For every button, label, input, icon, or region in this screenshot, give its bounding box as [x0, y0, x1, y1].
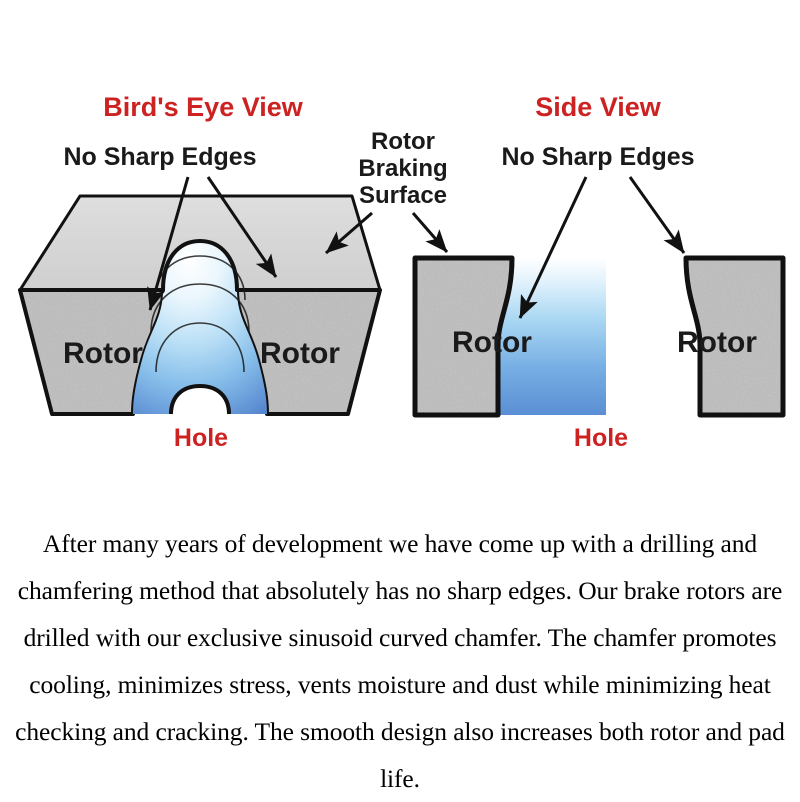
side-view-hole-label: Hole: [574, 424, 628, 452]
side-view-no-sharp-edges-label: No Sharp Edges: [501, 143, 694, 171]
description-paragraph: After many years of development we have …: [0, 520, 800, 802]
birds-eye-rotor-label-right: Rotor: [260, 337, 340, 370]
diagram-illustration: Bird's Eye View No Sharp Edges: [0, 0, 800, 480]
side-view-group: Side View No Sharp Edges Rotor Rotor Hol…: [415, 92, 783, 452]
side-view-rotor-label-left: Rotor: [452, 326, 532, 359]
birds-eye-rotor-label-left: Rotor: [63, 337, 143, 370]
birds-eye-no-sharp-edges-label: No Sharp Edges: [63, 143, 256, 171]
birds-eye-hole-label: Hole: [174, 424, 228, 452]
rotor-braking-surface-label-line1: Rotor: [371, 128, 435, 155]
rotor-braking-surface-label-line2: Braking: [358, 155, 447, 182]
side-view-rotor-label-right: Rotor: [677, 326, 757, 359]
hole-mouth-arc: [171, 386, 229, 414]
side-view-no-sharp-edges-arrow-right: [630, 177, 684, 253]
birds-eye-block: Rotor Rotor: [20, 196, 380, 414]
rotor-braking-surface-label-line3: Surface: [359, 182, 447, 209]
side-view-title: Side View: [535, 92, 662, 122]
birds-eye-view-title: Bird's Eye View: [103, 92, 304, 122]
birds-eye-view-group: Bird's Eye View No Sharp Edges: [20, 92, 380, 452]
rotor-chamfer-infographic: Bird's Eye View No Sharp Edges: [0, 0, 800, 800]
rotor-braking-surface-arrow-right: [413, 213, 447, 252]
